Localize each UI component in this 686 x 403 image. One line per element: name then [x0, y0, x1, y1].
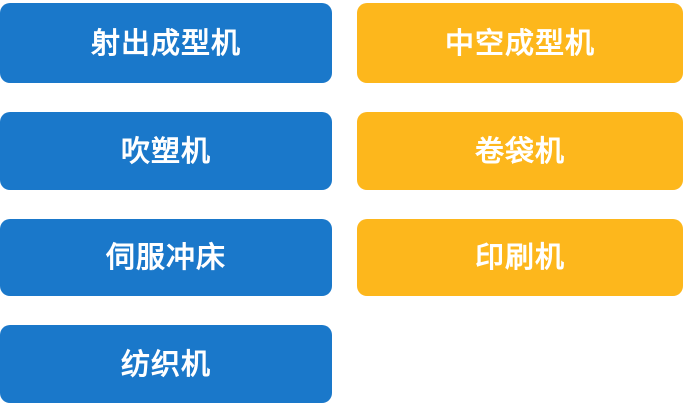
button-blow-molding-machine[interactable]: 吹塑机 [0, 112, 332, 190]
button-grid: 射出成型机 吹塑机 伺服冲床 纺织机 中空成型机 卷袋机 印刷机 [0, 0, 686, 403]
button-hollow-molding-machine[interactable]: 中空成型机 [357, 3, 683, 83]
button-label: 纺织机 [121, 350, 211, 379]
button-textile-machine[interactable]: 纺织机 [0, 325, 332, 403]
button-servo-punch-press[interactable]: 伺服冲床 [0, 219, 332, 296]
button-bag-rolling-machine[interactable]: 卷袋机 [357, 112, 683, 190]
button-label: 印刷机 [475, 243, 565, 272]
button-injection-molding-machine[interactable]: 射出成型机 [0, 3, 332, 83]
button-label: 伺服冲床 [106, 243, 226, 272]
button-label: 射出成型机 [91, 29, 241, 58]
button-label: 中空成型机 [445, 29, 595, 58]
button-label: 吹塑机 [121, 137, 211, 166]
button-printing-machine[interactable]: 印刷机 [357, 219, 683, 296]
button-label: 卷袋机 [475, 137, 565, 166]
